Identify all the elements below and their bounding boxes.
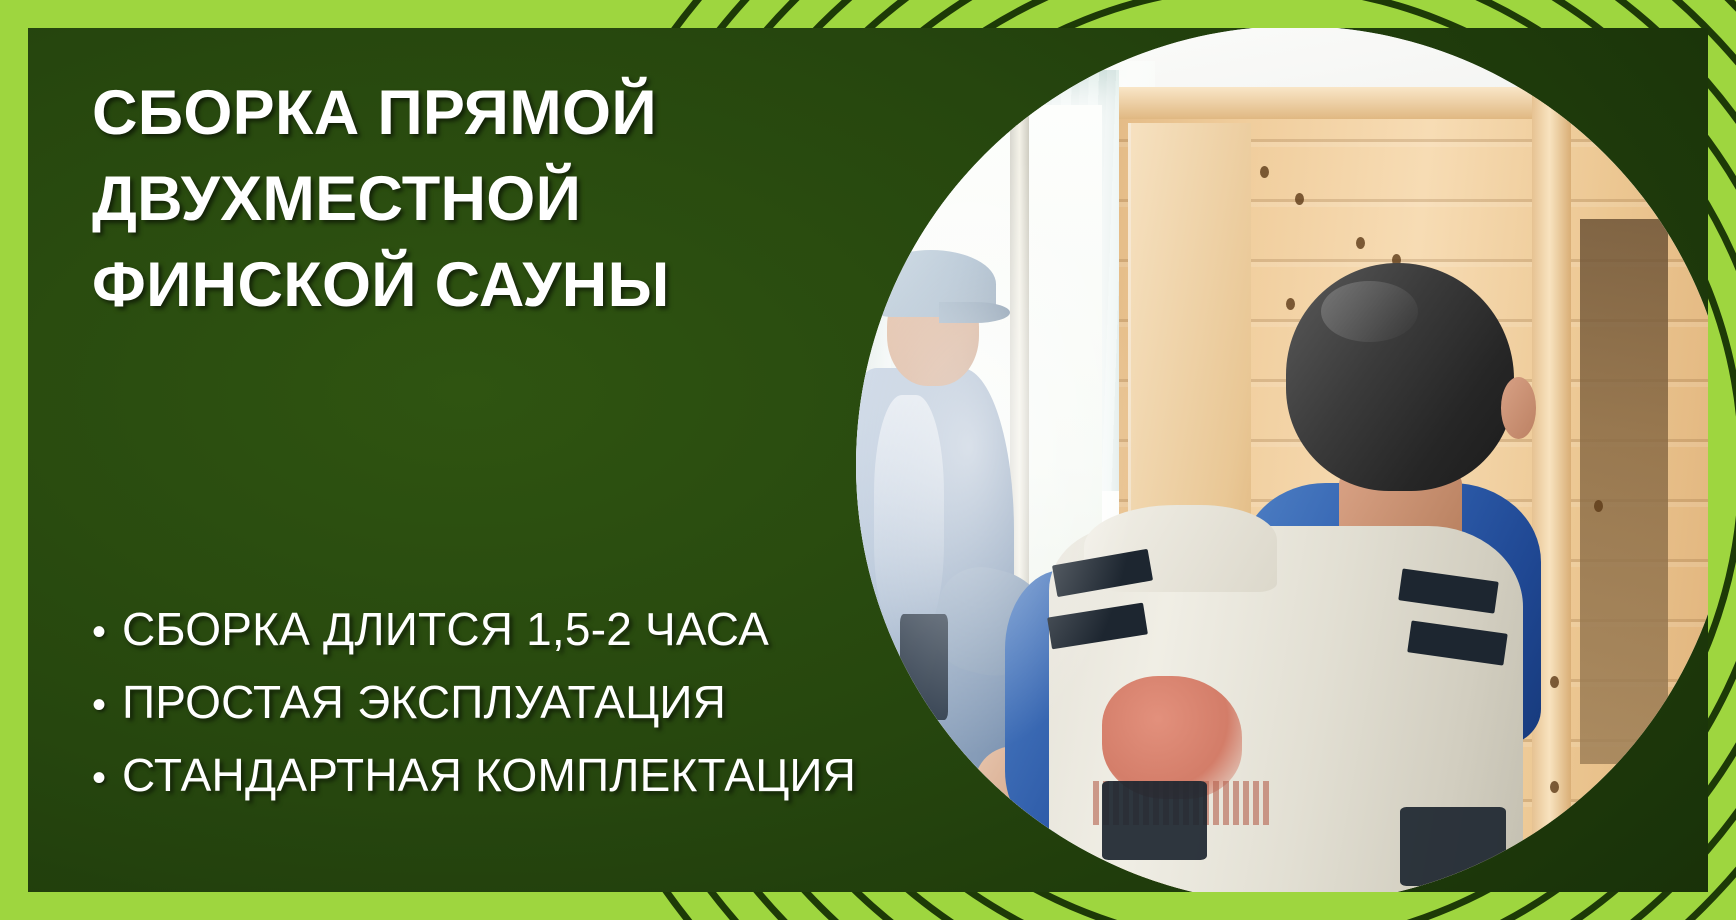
sauna-corner-post — [1532, 79, 1571, 892]
worker-left-cap-brim — [939, 302, 1009, 323]
worker-right-ear — [1501, 377, 1536, 438]
page-title: СБОРКА ПРЯМОЙ ДВУХМЕСТНОЙ ФИНСКОЙ САУНЫ — [92, 70, 792, 328]
content-panel: СБОРКА ПРЯМОЙ ДВУХМЕСТНОЙ ФИНСКОЙ САУНЫ … — [28, 28, 1708, 892]
worker-left-shirt-highlight — [874, 395, 944, 641]
list-item-label: СБОРКА ДЛИТСЯ 1,5-2 ЧАСА — [122, 598, 769, 660]
worker-left-pocket — [900, 614, 948, 719]
title-line-3: ФИНСКОЙ САУНЫ — [92, 242, 792, 328]
list-item: • СБОРКА ДЛИТСЯ 1,5-2 ЧАСА — [92, 598, 932, 661]
title-line-2: ДВУХМЕСТНОЙ — [92, 156, 792, 242]
wood-knot — [1550, 781, 1559, 793]
list-item-label: ПРОСТАЯ ЭКСПЛУАТАЦИЯ — [122, 671, 726, 733]
bullet-dot-icon: • — [92, 676, 106, 734]
title-line-1: СБОРКА ПРЯМОЙ — [92, 70, 792, 156]
wood-knot — [1550, 676, 1559, 688]
list-item-label: СТАНДАРТНАЯ КОМПЛЕКТАЦИЯ — [122, 744, 856, 806]
wood-knot — [1295, 193, 1304, 205]
bullet-dot-icon: • — [92, 749, 106, 807]
worker-right-cap-highlight — [1321, 281, 1418, 342]
list-item: • СТАНДАРТНАЯ КОМПЛЕКТАЦИЯ — [92, 744, 932, 807]
feature-list: • СБОРКА ДЛИТСЯ 1,5-2 ЧАСА • ПРОСТАЯ ЭКС… — [92, 598, 932, 817]
list-item: • ПРОСТАЯ ЭКСПЛУАТАЦИЯ — [92, 671, 932, 734]
sauna-assembly-photo — [856, 28, 1708, 892]
sauna-cabin-top-rail — [1119, 87, 1708, 119]
vest-pocket-right — [1400, 807, 1505, 886]
bullet-dot-icon: • — [92, 603, 106, 661]
wood-knot — [1594, 500, 1603, 512]
sauna-interior-gap — [1580, 219, 1668, 763]
vest-pocket-left — [1102, 781, 1207, 860]
promo-banner: СБОРКА ПРЯМОЙ ДВУХМЕСТНОЙ ФИНСКОЙ САУНЫ … — [0, 0, 1736, 920]
photo-content — [856, 28, 1708, 892]
